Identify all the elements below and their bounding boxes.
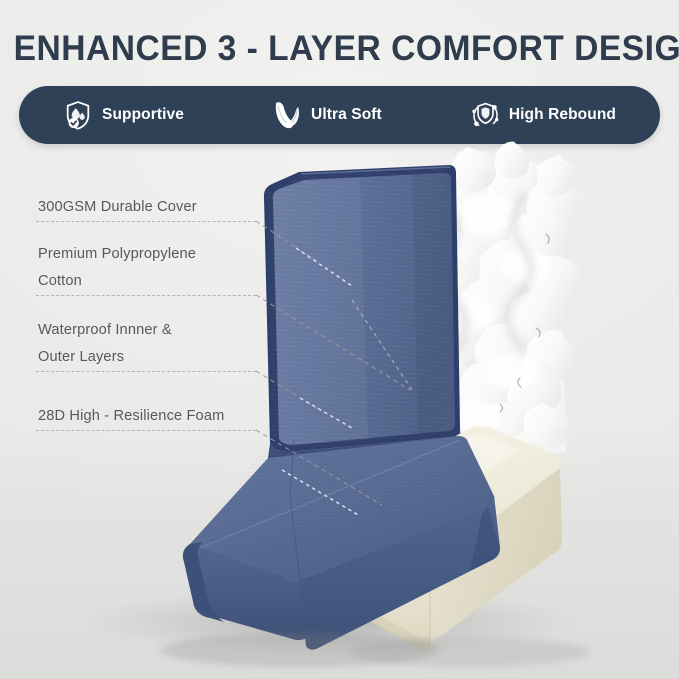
annotation-layers: Waterproof Innner & Outer Layers <box>38 322 172 365</box>
annotation-cover: 300GSM Durable Cover <box>38 199 197 215</box>
annotation-line-2: Cotton <box>38 273 196 289</box>
annotation-underline <box>36 295 256 296</box>
annotation-line-1: Waterproof Innner & <box>38 322 172 338</box>
annotation-underline <box>36 221 256 222</box>
annotation-cotton: Premium Polypropylene Cotton <box>38 246 196 289</box>
annotation-line-2: Outer Layers <box>38 349 172 365</box>
annotation-line-1: 28D High - Resilience Foam <box>38 408 224 424</box>
infographic-canvas: ENHANCED 3 - LAYER COMFORT DESIGN Suppor… <box>0 0 679 679</box>
annotation-line-1: 300GSM Durable Cover <box>38 199 197 215</box>
annotation-foam: 28D High - Resilience Foam <box>38 408 224 424</box>
annotation-underline <box>36 371 256 372</box>
annotation-line-1: Premium Polypropylene <box>38 246 196 262</box>
annotation-underline <box>36 430 256 431</box>
